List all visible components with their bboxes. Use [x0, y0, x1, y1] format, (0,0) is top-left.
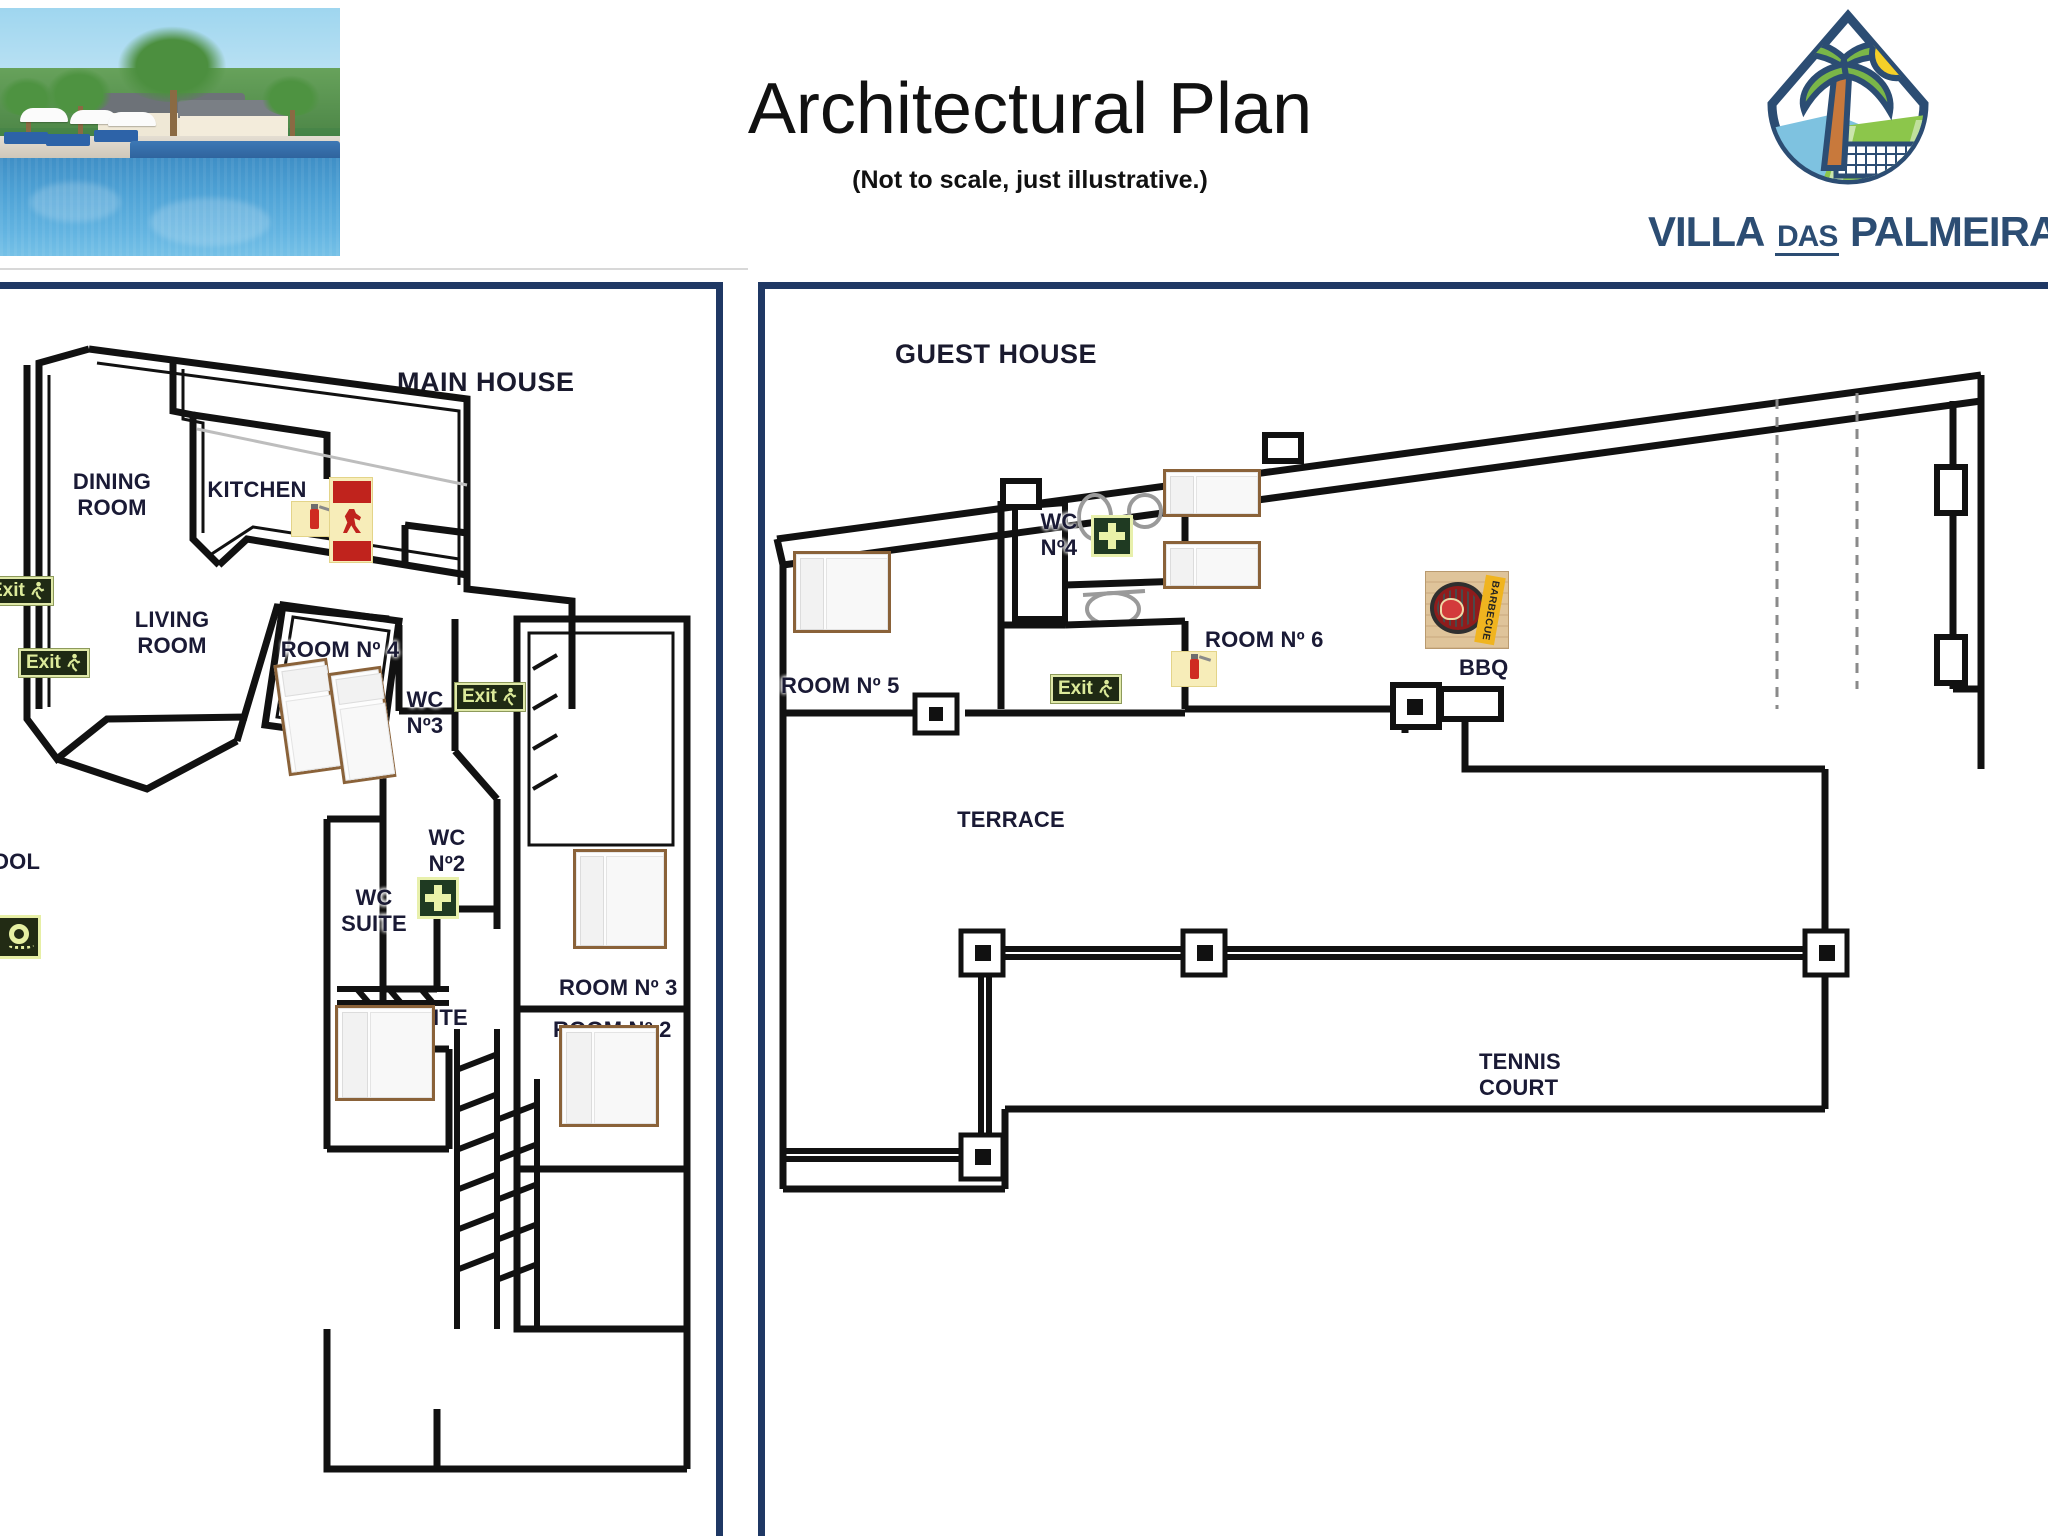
room-label-wc-4: WC Nº4	[1019, 509, 1099, 561]
room-label-room-5: ROOM Nº 5	[781, 673, 941, 699]
fire-action-bottom-band	[333, 541, 371, 561]
running-person-icon	[65, 653, 82, 672]
first-aid-cross-icon	[1099, 523, 1125, 549]
fire-extinguisher-sign-2[interactable]	[1171, 651, 1217, 687]
first-aid-sign-2[interactable]	[1091, 515, 1133, 557]
exit-sign-1[interactable]: Exit	[0, 577, 53, 605]
barbecue-ribbon: BARBECUE	[1474, 575, 1506, 645]
photo-lounger-1	[4, 132, 48, 144]
room-label-terrace: TERRACE	[931, 807, 1091, 833]
life-buoy-rope-icon	[8, 940, 34, 949]
photo-umbrella-3	[108, 112, 156, 126]
logo-word-das: DAS	[1775, 220, 1839, 256]
first-aid-cross-icon	[425, 885, 451, 911]
villa-pool-photo	[0, 8, 340, 256]
exit-sign-3[interactable]: Exit	[455, 683, 525, 711]
guest-house-floorplan	[765, 289, 2048, 1536]
page-title: Architectural Plan	[480, 68, 1580, 150]
room-label-room-4: ROOM Nº 4	[275, 637, 405, 663]
villa-das-palmeiras-logo	[1748, 8, 1948, 232]
bed-room-6-upper	[1163, 469, 1261, 517]
fire-extinguisher-icon	[1190, 659, 1199, 679]
fire-action-sign-1[interactable]	[329, 477, 373, 563]
life-buoy-sign[interactable]	[0, 915, 41, 959]
room-label-bbq: BBQ	[1459, 655, 1539, 681]
exit-sign-label: Exit	[1058, 679, 1093, 698]
bed-room-6-lower	[1163, 541, 1261, 589]
first-aid-sign-1[interactable]	[417, 877, 459, 919]
exit-sign-4[interactable]: Exit	[1051, 675, 1121, 703]
fire-extinguisher-icon	[310, 509, 319, 529]
exit-sign-label: Exit	[0, 581, 25, 600]
running-person-icon	[1097, 679, 1114, 698]
room-label-tennis-court: TENNIS COURT	[1479, 1049, 1639, 1101]
room-label-wc-2: WC Nº2	[412, 825, 482, 877]
photo-umbrella-1	[20, 108, 68, 122]
running-person-icon	[501, 687, 518, 706]
architectural-plan-page: Architectural Plan (Not to scale, just i…	[0, 0, 2048, 1536]
room-label-room-6: ROOM Nº 6	[1205, 627, 1375, 653]
logo-word-villa: VILLA	[1648, 208, 1764, 255]
guest-house-panel: GUEST HOUSE	[758, 282, 2048, 1536]
room-label-wc-3: WC Nº3	[390, 687, 460, 739]
barbecue-sign[interactable]: BARBECUE	[1425, 571, 1509, 649]
bed-room-3	[573, 849, 667, 949]
main-house-panel: MAIN HOUSE	[0, 282, 723, 1536]
logo-wordmark: VILLA DAS PALMEIRA	[1648, 208, 2048, 256]
exit-sign-2[interactable]: Exit	[19, 649, 89, 677]
running-person-icon	[29, 581, 46, 600]
photo-lounger-2	[46, 134, 90, 146]
header-divider	[0, 268, 748, 270]
room-label-kitchen: KITCHEN	[197, 477, 317, 503]
page-subtitle: (Not to scale, just illustrative.)	[480, 166, 1580, 195]
barbecue-ribbon-label: BARBECUE	[1479, 579, 1500, 641]
room-label-pool: POOL	[0, 849, 47, 875]
page-header: Architectural Plan (Not to scale, just i…	[0, 0, 2048, 270]
room-label-room-3: ROOM Nº 3	[559, 975, 709, 1001]
room-label-dining-room: DINING ROOM	[52, 469, 172, 521]
steak-icon	[1440, 598, 1464, 620]
photo-pool-water	[0, 158, 340, 256]
room-label-living-room: LIVING ROOM	[112, 607, 232, 659]
bed-room-2	[559, 1025, 659, 1127]
fire-action-top-band	[333, 481, 371, 503]
exit-sign-label: Exit	[462, 687, 497, 706]
bed-suite	[335, 1005, 435, 1101]
room-label-wc-suite: WC SUITE	[331, 885, 417, 937]
exit-sign-label: Exit	[26, 653, 61, 672]
logo-word-palmeiras: PALMEIRA	[1850, 208, 2048, 255]
bed-room-5	[793, 551, 891, 633]
